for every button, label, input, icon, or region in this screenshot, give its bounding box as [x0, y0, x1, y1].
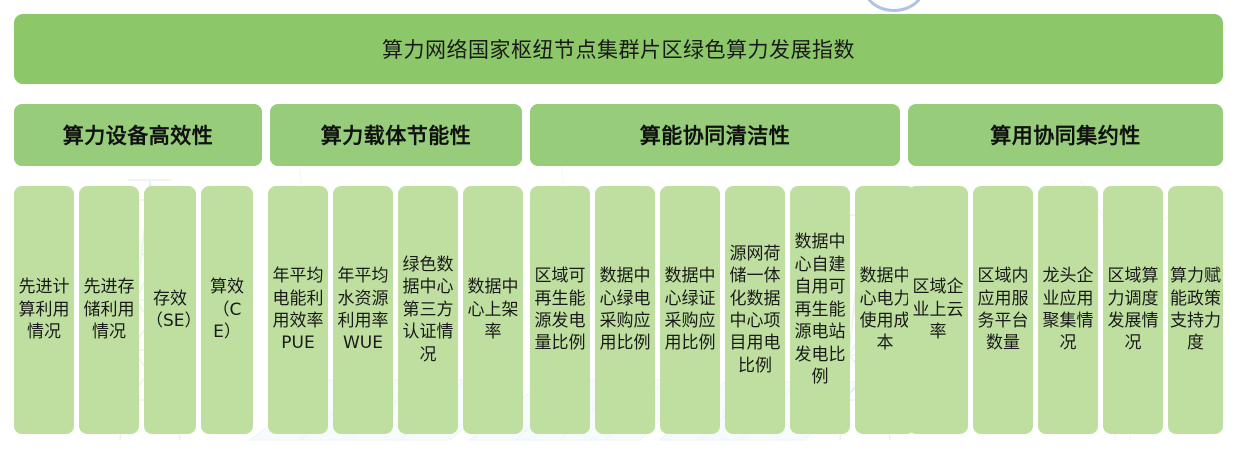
- indicator-label: 年平均水资源利用率WUE: [335, 265, 391, 355]
- indicator-label: 源网荷储一体化数据中心项目用电比例: [727, 243, 783, 378]
- page-title: 算力网络国家枢纽节点集群片区绿色算力发展指数: [382, 34, 855, 64]
- indicator-label: 算效（CE）: [203, 276, 251, 343]
- indicator-box[interactable]: 区域企业上云率: [908, 186, 968, 434]
- category-label-3: 算能协同清洁性: [640, 120, 791, 150]
- indicator-box[interactable]: 算效（CE）: [201, 186, 253, 434]
- indicator-row: 先进计算利用情况 先进存储利用情况 存效（SE） 算效（CE） 年平均电能利用效…: [0, 186, 1237, 434]
- indicator-label: 先进计算利用情况: [16, 276, 72, 343]
- indicator-label: 数据中心电力使用成本: [857, 265, 913, 355]
- indicator-box[interactable]: 区域可再生能源发电量比例: [530, 186, 590, 434]
- category-box-3[interactable]: 算能协同清洁性: [530, 104, 900, 166]
- indicator-label: 数据中心上架率: [465, 276, 521, 343]
- indicator-box[interactable]: 数据中心上架率: [463, 186, 523, 434]
- indicator-box[interactable]: 算力赋能政策支持力度: [1168, 186, 1223, 434]
- indicator-label: 区域可再生能源发电量比例: [532, 265, 588, 355]
- indicator-label: 区域内应用服务平台数量: [975, 265, 1031, 355]
- indicator-label: 算力赋能政策支持力度: [1170, 265, 1221, 355]
- indicator-box[interactable]: 源网荷储一体化数据中心项目用电比例: [725, 186, 785, 434]
- indicator-box[interactable]: 数据中心绿电采购应用比例: [595, 186, 655, 434]
- indicator-box[interactable]: 数据中心电力使用成本: [855, 186, 915, 434]
- indicator-box[interactable]: 先进计算利用情况: [14, 186, 74, 434]
- indicator-label: 先进存储利用情况: [81, 276, 137, 343]
- indicator-label: 区域算力调度发展情况: [1105, 265, 1161, 355]
- indicator-label: 存效（SE）: [146, 288, 194, 333]
- indicator-label: 数据中心自建自用可再生能源电站发电比例: [792, 231, 848, 388]
- indicator-label: 区域企业上云率: [910, 276, 966, 343]
- category-row: 算力设备高效性 算力载体节能性 算能协同清洁性 算用协同集约性: [0, 104, 1237, 166]
- indicator-box[interactable]: 绿色数据中心第三方认证情况: [398, 186, 458, 434]
- indicator-box[interactable]: 数据中心自建自用可再生能源电站发电比例: [790, 186, 850, 434]
- indicator-box[interactable]: 龙头企业应用聚集情况: [1038, 186, 1098, 434]
- indicator-box[interactable]: 年平均电能利用效率PUE: [268, 186, 328, 434]
- indicator-label: 绿色数据中心第三方认证情况: [400, 254, 456, 366]
- index-framework-diagram: 算力网络国家枢纽节点集群片区绿色算力发展指数 算力设备高效性 算力载体节能性 算…: [0, 0, 1237, 450]
- category-label-1: 算力设备高效性: [63, 120, 214, 150]
- logo-arc-icon: [862, 0, 926, 12]
- indicator-box[interactable]: 先进存储利用情况: [79, 186, 139, 434]
- category-box-2[interactable]: 算力载体节能性: [270, 104, 522, 166]
- indicator-box[interactable]: 区域算力调度发展情况: [1103, 186, 1163, 434]
- indicator-box[interactable]: 数据中心绿证采购应用比例: [660, 186, 720, 434]
- indicator-box[interactable]: 年平均水资源利用率WUE: [333, 186, 393, 434]
- category-label-4: 算用协同集约性: [990, 120, 1141, 150]
- indicator-label: 年平均电能利用效率PUE: [270, 265, 326, 355]
- indicator-label: 龙头企业应用聚集情况: [1040, 265, 1096, 355]
- category-box-4[interactable]: 算用协同集约性: [908, 104, 1223, 166]
- indicator-label: 数据中心绿电采购应用比例: [597, 265, 653, 355]
- diagram-title-bar: 算力网络国家枢纽节点集群片区绿色算力发展指数: [14, 14, 1223, 84]
- indicator-box[interactable]: 存效（SE）: [144, 186, 196, 434]
- category-box-1[interactable]: 算力设备高效性: [14, 104, 262, 166]
- indicator-box[interactable]: 区域内应用服务平台数量: [973, 186, 1033, 434]
- category-label-2: 算力载体节能性: [321, 120, 472, 150]
- indicator-label: 数据中心绿证采购应用比例: [662, 265, 718, 355]
